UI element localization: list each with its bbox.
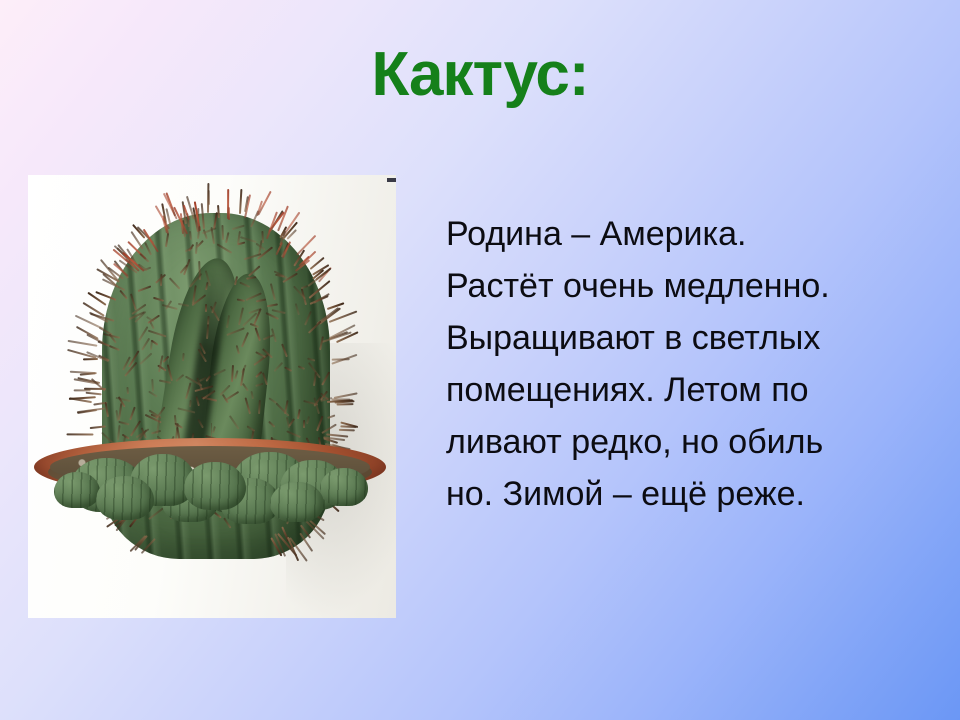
cactus-spine (282, 211, 300, 236)
cactus-spine (286, 230, 297, 241)
cactus-offset (320, 468, 368, 506)
cactus-spine (83, 302, 105, 317)
cactus-spine (282, 221, 298, 239)
cactus-spine (277, 205, 289, 231)
cactus-photo[interactable] (28, 175, 396, 618)
cactus-spine (257, 191, 272, 216)
cactus-spine (74, 378, 99, 384)
cactus-spine (332, 358, 350, 361)
page-title: Кактус: (0, 42, 960, 107)
cactus-spine (244, 196, 249, 212)
cactus-spine (239, 189, 242, 214)
cactus-spine (313, 264, 330, 275)
cactus-spine (74, 389, 91, 391)
cactus-spine (76, 326, 99, 340)
cactus-offset (270, 482, 324, 522)
photo-corner-handle[interactable] (387, 178, 396, 182)
slide-canvas: Кактус: Роди (0, 0, 960, 720)
cactus-offset (184, 462, 246, 510)
text-line: Родина – Америка. (446, 208, 916, 260)
cactus-spine (327, 302, 345, 310)
cactus-offset (96, 476, 154, 520)
flower-pot (34, 432, 386, 618)
cactus-spine (163, 193, 178, 220)
cactus-spine (310, 257, 325, 270)
cactus-spine (88, 292, 107, 306)
cactus-spine (244, 194, 251, 218)
cactus-spine (328, 331, 347, 340)
cactus-spine (85, 392, 102, 396)
cactus-spine (67, 349, 96, 359)
cactus-spine (77, 377, 100, 384)
cactus-spine (67, 340, 97, 347)
cactus-spine (133, 224, 147, 239)
cactus-spine (83, 358, 98, 360)
text-line: помещениях. Летом по (446, 364, 916, 416)
text-line: но. Зимой – ещё реже. (446, 468, 916, 520)
cactus-spine (69, 396, 96, 400)
cactus-spine (76, 407, 104, 413)
text-line: ливают редко, но обиль (446, 416, 916, 468)
cactus-spine (78, 409, 98, 414)
description-text-block: Родина – Америка. Растёт очень медленно.… (446, 208, 916, 520)
photo-scene (28, 175, 396, 618)
cactus-spine (256, 200, 263, 216)
cactus-spine (69, 397, 92, 403)
cactus-spine (112, 249, 129, 264)
cactus-spine (161, 203, 167, 223)
cactus-spine (316, 268, 332, 281)
cactus-spine (297, 235, 317, 256)
cactus-spine (318, 267, 332, 282)
cactus-offset (54, 472, 100, 508)
cactus-spine (70, 370, 97, 374)
cactus-spine (207, 190, 209, 205)
cactus-spine (312, 269, 324, 279)
cactus-spine (79, 372, 95, 375)
cactus-spine (335, 332, 358, 344)
cactus-spine (331, 399, 350, 401)
cactus-spine (329, 324, 356, 339)
cactus-spine (207, 183, 209, 213)
text-line: Растёт очень медленно. (446, 260, 916, 312)
cactus-spine (165, 193, 176, 217)
cactus-spine (327, 399, 353, 403)
cactus-spine (96, 268, 119, 282)
cactus-spine (329, 311, 358, 324)
cactus-spine (337, 403, 354, 405)
text-line: Выращивают в светлых (446, 312, 916, 364)
cactus-spine (74, 314, 103, 329)
